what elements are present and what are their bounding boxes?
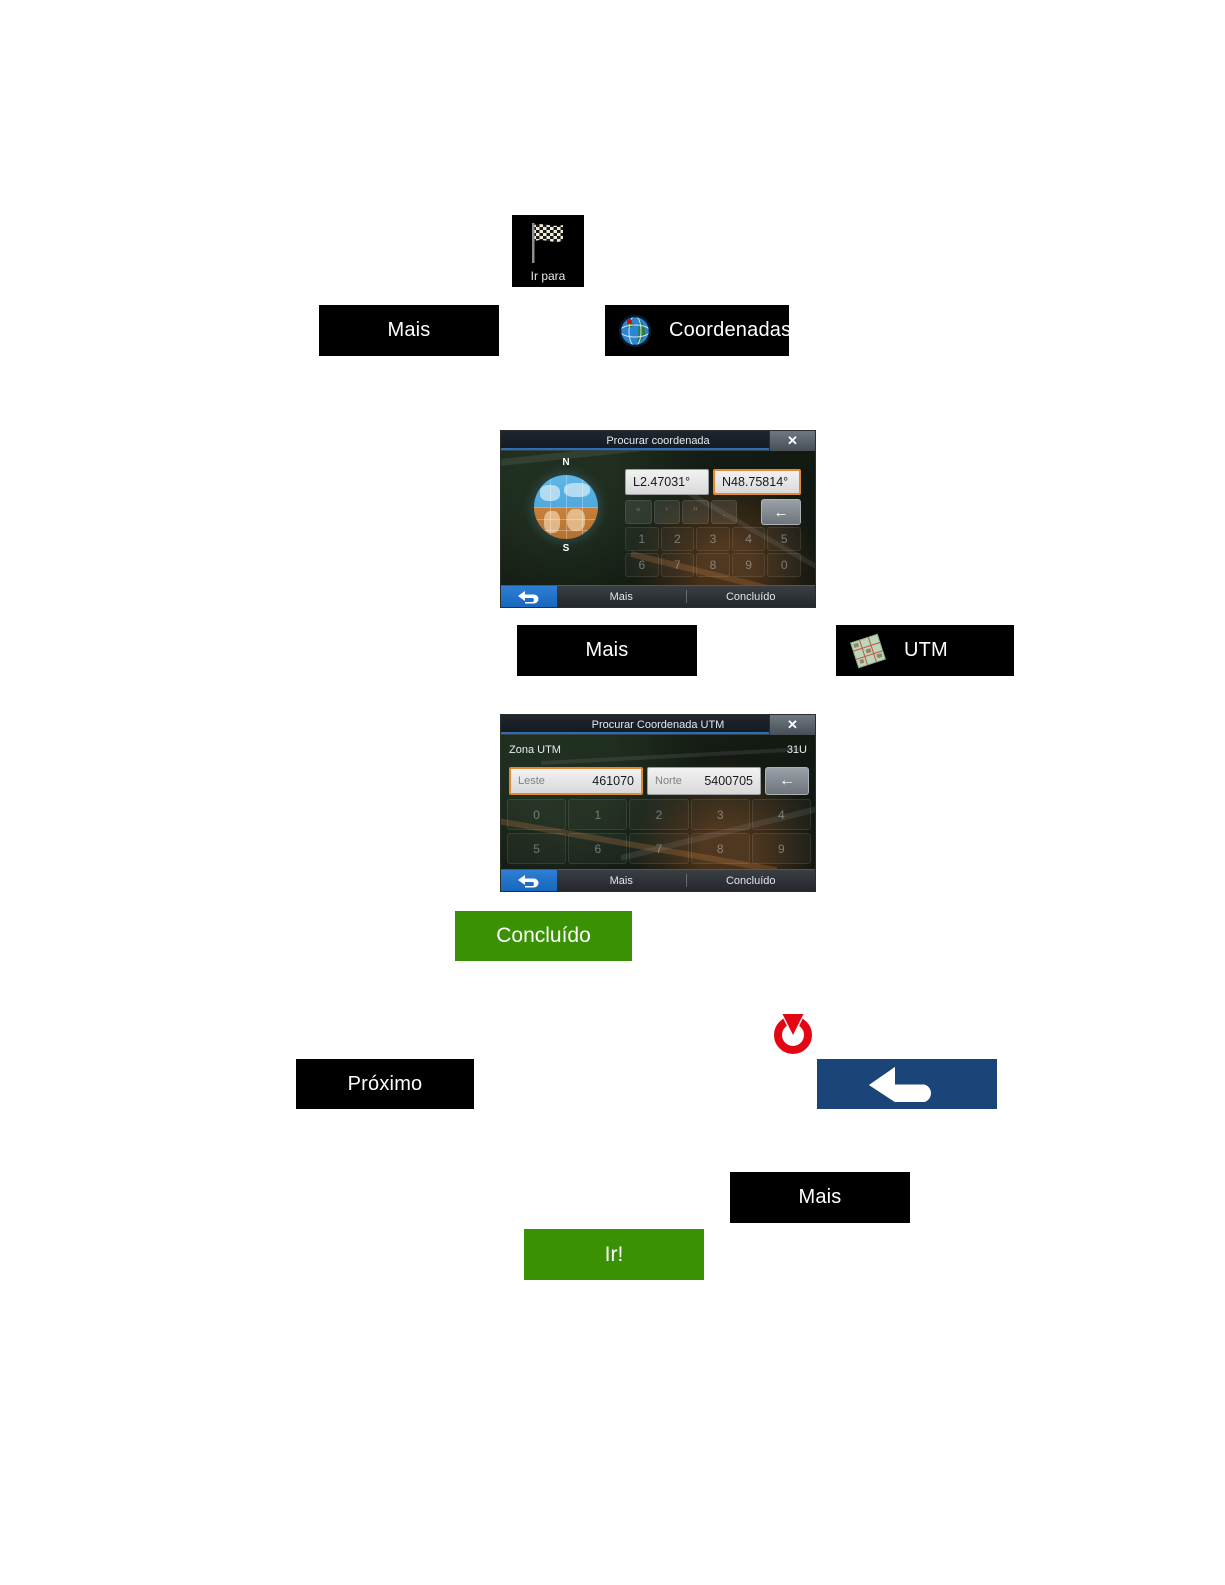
backspace-icon: ← [779,772,795,790]
coordinate-search-dialog[interactable]: Procurar coordenada ✕ N S L2.47031° N48.… [500,430,816,608]
key-5[interactable]: 5 [507,833,566,864]
utm-button-label: UTM [904,639,948,662]
done-button[interactable]: Concluído [687,870,816,891]
checkered-flag-icon [512,215,584,270]
titlebar-accent [501,448,769,450]
key-degree[interactable]: ° [625,500,652,524]
back-button[interactable] [501,586,557,607]
numeric-keypad-row-1[interactable]: 0 1 2 3 4 [507,799,811,830]
key-6[interactable]: 6 [568,833,627,864]
mais-button-1[interactable]: Mais [319,305,499,356]
key-2[interactable]: 2 [661,527,695,551]
key-4[interactable]: 4 [752,799,811,830]
key-5[interactable]: 5 [767,527,801,551]
coordenadas-button-label: Coordenadas [669,319,791,342]
back-arrow-icon [516,874,542,888]
back-button[interactable] [501,870,557,891]
numeric-keypad-row-2[interactable]: 6 7 8 9 0 [625,553,801,577]
globe-graphic [534,475,598,539]
back-arrow-icon [864,1064,950,1104]
ir-button[interactable]: Ir! [524,1229,704,1280]
mais-button-3-label: Mais [798,1186,841,1209]
dialog-bottom-bar: Mais Concluído [501,585,815,607]
done-button[interactable]: Concluído [687,586,816,607]
key-minute[interactable]: ' [654,500,681,524]
northing-label: Norte [655,775,682,787]
goto-tile[interactable]: Ir para [512,215,584,287]
utm-search-dialog[interactable]: Procurar Coordenada UTM ✕ Zona UTM 31U L… [500,714,816,892]
map-marker-icon [767,1004,819,1056]
easting-value: 461070 [592,774,634,788]
key-8[interactable]: 8 [696,553,730,577]
proximo-button-label: Próximo [348,1073,423,1096]
key-9[interactable]: 9 [752,833,811,864]
dialog-title: Procurar Coordenada UTM [592,719,725,731]
utm-zone-value: 31U [787,744,807,756]
key-3[interactable]: 3 [691,799,750,830]
key-2[interactable]: 2 [629,799,688,830]
utm-zone-row[interactable]: Zona UTM 31U [501,739,815,761]
easting-label: Leste [518,775,545,787]
mais-button-3[interactable]: Mais [730,1172,910,1223]
more-button[interactable]: Mais [557,870,686,891]
close-icon[interactable]: ✕ [769,431,815,451]
key-second[interactable]: " [682,500,709,524]
key-1[interactable]: 1 [568,799,627,830]
numeric-keypad-row-2[interactable]: 5 6 7 8 9 [507,833,811,864]
key-6[interactable]: 6 [625,553,659,577]
back-arrow-icon [516,590,542,604]
key-7[interactable]: 7 [661,553,695,577]
key-0[interactable]: 0 [767,553,801,577]
latitude-value: N48.75814° [722,475,788,489]
longitude-field[interactable]: L2.47031° [625,469,709,495]
dialog-bottom-bar: Mais Concluído [501,869,815,891]
symbol-key-row[interactable]: ° ' " . [625,500,737,524]
mais-button-1-label: Mais [387,319,430,342]
close-icon-glyph: ✕ [787,717,798,733]
backspace-key[interactable]: ← [761,499,801,525]
longitude-value: L2.47031° [633,475,690,489]
titlebar-accent [501,732,769,734]
compass-south-label: S [556,543,576,554]
dialog-title: Procurar coordenada [606,435,709,447]
easting-field[interactable]: Leste 461070 [509,767,643,795]
key-7[interactable]: 7 [629,833,688,864]
utm-zone-label: Zona UTM [509,744,561,756]
dialog-titlebar: Procurar coordenada [501,431,815,451]
back-button-callout[interactable] [817,1059,997,1109]
utm-button[interactable]: UTM [836,625,1014,676]
proximo-button[interactable]: Próximo [296,1059,474,1109]
globe-icon [615,311,655,351]
close-icon-glyph: ✕ [787,433,798,449]
compass-north-label: N [556,457,576,468]
utm-grid-icon [846,632,890,670]
concluido-button-label: Concluído [496,924,591,948]
northing-field[interactable]: Norte 5400705 [647,767,761,795]
key-3[interactable]: 3 [696,527,730,551]
more-button[interactable]: Mais [557,586,686,607]
key-9[interactable]: 9 [732,553,766,577]
done-button-label: Concluído [726,591,776,603]
more-button-label: Mais [610,875,633,887]
backspace-icon: ← [774,504,789,521]
coordenadas-button[interactable]: Coordenadas [605,305,789,356]
northing-value: 5400705 [704,774,753,788]
ir-button-label: Ir! [605,1243,624,1267]
key-0[interactable]: 0 [507,799,566,830]
more-button-label: Mais [610,591,633,603]
dialog-titlebar: Procurar Coordenada UTM [501,715,815,735]
numeric-keypad-row-1[interactable]: 1 2 3 4 5 [625,527,801,551]
key-1[interactable]: 1 [625,527,659,551]
key-4[interactable]: 4 [732,527,766,551]
key-dot[interactable]: . [711,500,738,524]
mais-button-2[interactable]: Mais [517,625,697,676]
close-icon[interactable]: ✕ [769,715,815,735]
concluido-button[interactable]: Concluído [455,911,632,961]
key-8[interactable]: 8 [691,833,750,864]
latitude-field[interactable]: N48.75814° [713,469,801,495]
backspace-key[interactable]: ← [765,767,809,795]
goto-tile-label: Ir para [531,270,566,283]
mais-button-2-label: Mais [585,639,628,662]
done-button-label: Concluído [726,875,776,887]
